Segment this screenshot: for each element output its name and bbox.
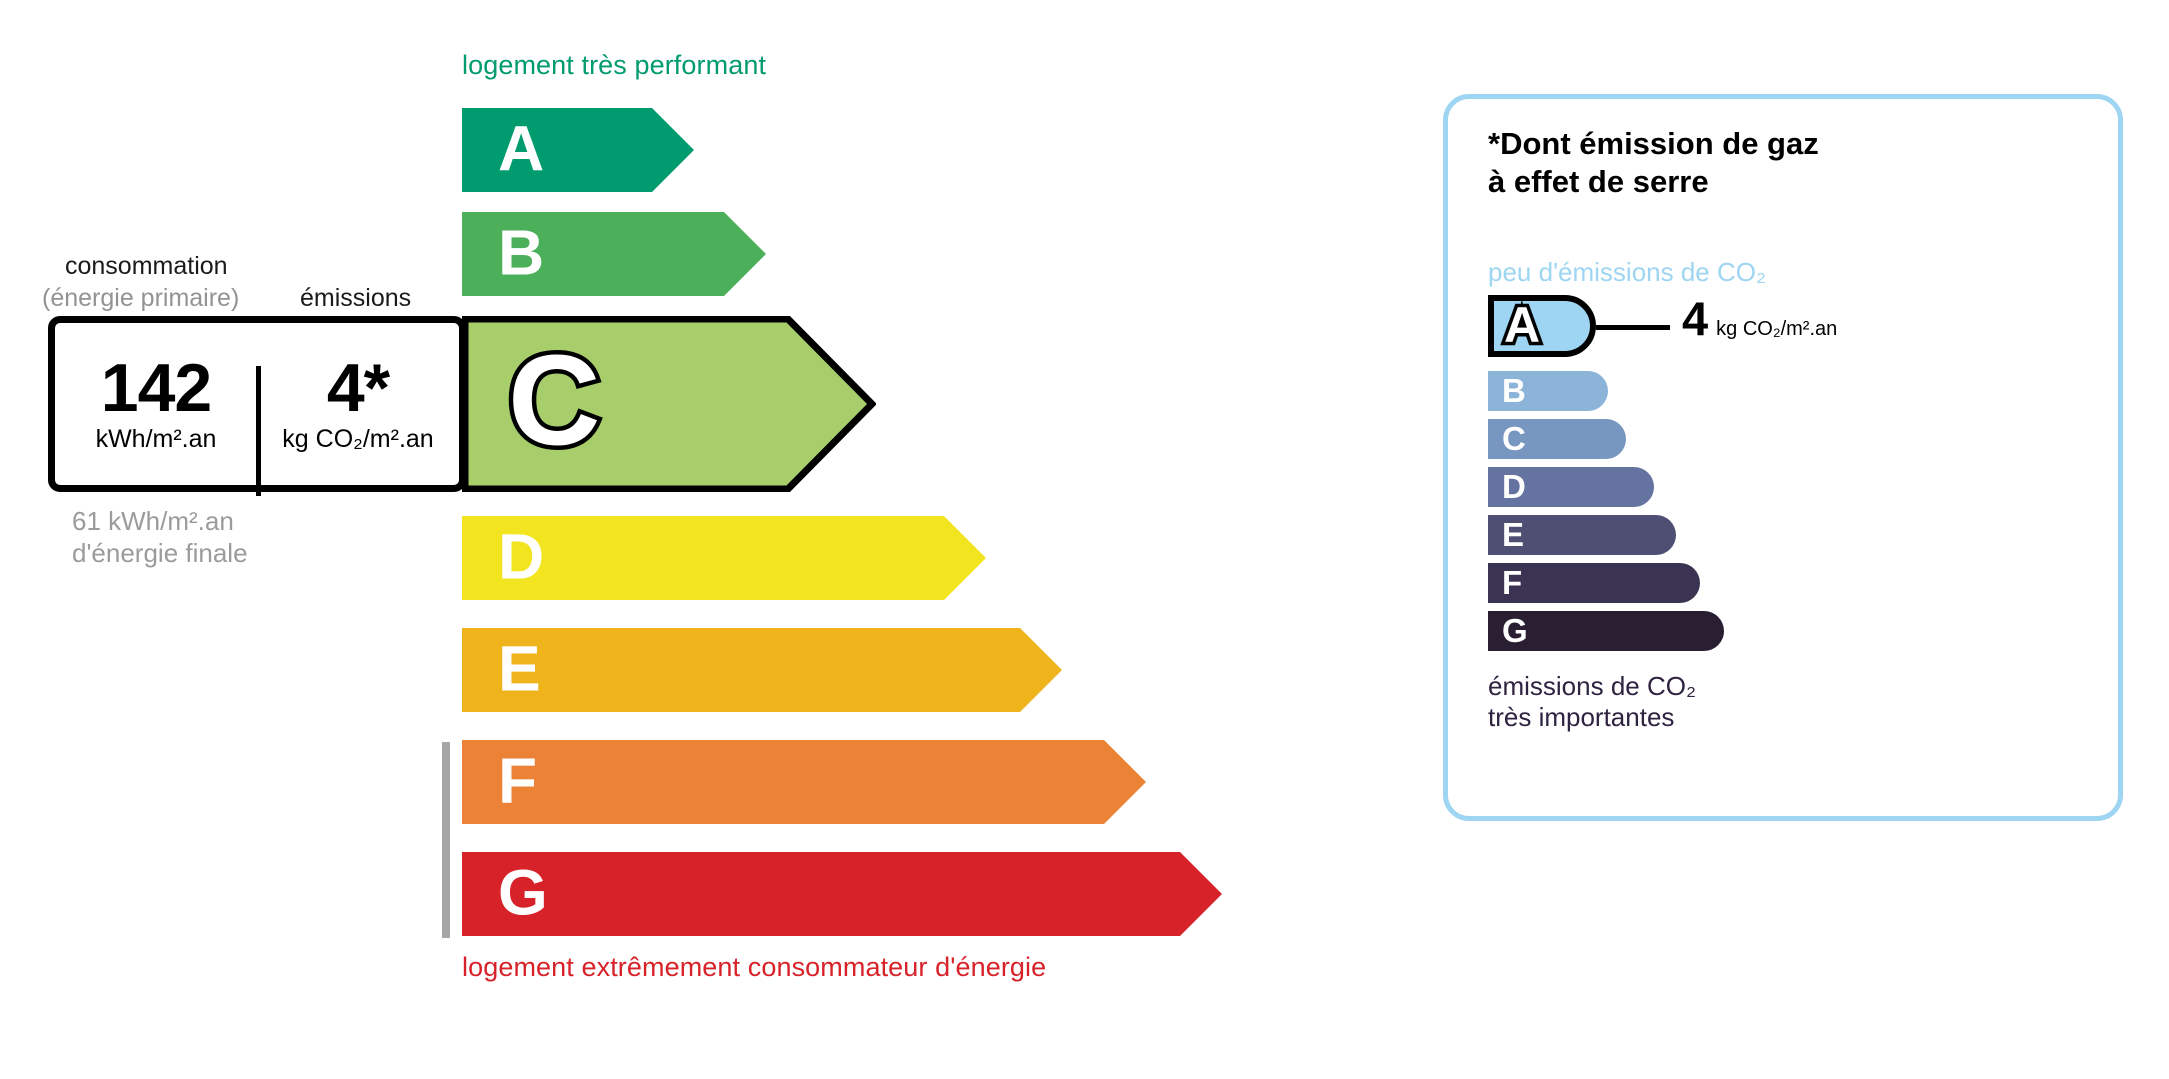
grade-arrow-f-icon xyxy=(462,740,1146,824)
co2-letter-e: E xyxy=(1502,518,1524,551)
energy-grade-row-g[interactable]: G xyxy=(462,852,1222,936)
measured-values-box: 142 kWh/m².an 4* kg CO₂/m².an xyxy=(48,316,466,492)
co2-title-line1: *Dont émission de gaz xyxy=(1488,125,1819,163)
grade-letter-f: F xyxy=(498,749,537,813)
consumption-value: 142 xyxy=(55,354,257,423)
final-energy-line2: d'énergie finale xyxy=(72,538,248,570)
grade-arrow-e-icon xyxy=(462,628,1062,712)
co2-letter-g: G xyxy=(1502,614,1528,647)
energy-grade-row-c-selected[interactable]: C xyxy=(462,316,876,492)
scale-caption-bottom: logement extrêmement consommateur d'éner… xyxy=(462,952,1046,983)
grade-letter-b: B xyxy=(498,221,544,285)
emissions-label: émissions xyxy=(300,284,411,313)
co2-grade-row-b[interactable]: B xyxy=(1488,371,1608,411)
energy-performance-diagram: logement très performant A B C D E xyxy=(0,0,1400,1079)
grade-letter-e: E xyxy=(498,637,541,701)
co2-value-unit: kg CO₂/m².an xyxy=(1716,318,1837,341)
energy-grade-row-a[interactable]: A xyxy=(462,108,694,192)
co2-letter-b: B xyxy=(1502,374,1526,407)
emissions-value-unit: kg CO₂/m².an xyxy=(257,425,459,454)
emissions-value-cell: 4* kg CO₂/m².an xyxy=(257,354,459,454)
co2-grade-row-f[interactable]: F xyxy=(1488,563,1700,603)
final-energy-note: 61 kWh/m².an d'énergie finale xyxy=(72,506,248,569)
co2-leader-line xyxy=(1596,325,1670,330)
grade-letter-a: A xyxy=(498,117,544,181)
co2-grade-row-e[interactable]: E xyxy=(1488,515,1676,555)
co2-letter-c: C xyxy=(1502,422,1526,455)
passoire-energetique-bracket xyxy=(442,742,450,938)
co2-caption-bottom-line2: très importantes xyxy=(1488,702,1696,733)
consumption-value-unit: kWh/m².an xyxy=(55,425,257,454)
final-energy-line1: 61 kWh/m².an xyxy=(72,506,248,538)
co2-title-line2: à effet de serre xyxy=(1488,163,1819,201)
consumption-sublabel: (énergie primaire) xyxy=(42,284,239,313)
co2-letter-f: F xyxy=(1502,566,1522,599)
consumption-label: consommation xyxy=(65,252,228,281)
grade-letter-g: G xyxy=(498,861,548,925)
energy-grade-row-d[interactable]: D xyxy=(462,516,986,600)
co2-value-number: 4 xyxy=(1682,295,1708,342)
grade-letter-c: C xyxy=(508,337,600,465)
grade-arrow-g-icon xyxy=(462,852,1222,936)
scale-caption-top: logement très performant xyxy=(462,50,766,81)
co2-grade-row-g[interactable]: G xyxy=(1488,611,1724,651)
co2-caption-top: peu d'émissions de CO₂ xyxy=(1488,257,1766,288)
co2-caption-bottom: émissions de CO₂ très importantes xyxy=(1488,671,1696,733)
energy-grade-row-b[interactable]: B xyxy=(462,212,766,296)
co2-grade-row-a-selected[interactable]: A xyxy=(1488,295,1596,357)
co2-panel-title: *Dont émission de gaz à effet de serre xyxy=(1488,125,1819,201)
co2-letter-a: A xyxy=(1504,300,1540,350)
consumption-value-cell: 142 kWh/m².an xyxy=(55,354,257,454)
emissions-value: 4* xyxy=(257,354,459,423)
grade-arrow-a-icon xyxy=(462,108,694,192)
energy-grade-row-e[interactable]: E xyxy=(462,628,1062,712)
grade-letter-d: D xyxy=(498,525,544,589)
energy-grade-row-f[interactable]: F xyxy=(462,740,1146,824)
co2-measured-value: 4 kg CO₂/m².an xyxy=(1682,295,1837,342)
co2-emissions-panel: *Dont émission de gaz à effet de serre p… xyxy=(1443,94,2123,821)
co2-grade-row-d[interactable]: D xyxy=(1488,467,1654,507)
co2-letter-d: D xyxy=(1502,470,1526,503)
co2-caption-bottom-line1: émissions de CO₂ xyxy=(1488,671,1696,702)
co2-grade-row-c[interactable]: C xyxy=(1488,419,1626,459)
